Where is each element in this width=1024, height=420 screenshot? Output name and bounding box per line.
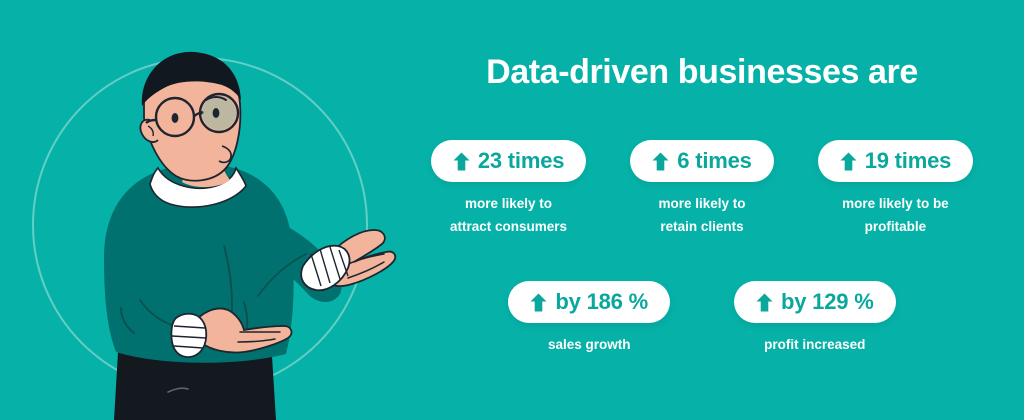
arrow-up-icon: [756, 293, 773, 312]
stat-caption: profit increased: [764, 333, 865, 356]
stat-caption: more likely to attract consumers: [450, 192, 567, 238]
stat-value: by 186 %: [555, 291, 648, 313]
stat-value: 6 times: [677, 150, 751, 172]
stat-value: 19 times: [865, 150, 951, 172]
stat-pill[interactable]: by 186 %: [508, 281, 670, 323]
stat-pill[interactable]: 23 times: [431, 140, 586, 182]
stat-pill[interactable]: 19 times: [818, 140, 973, 182]
stats-row-bottom: by 186 % sales growth by 129 % profit in…: [380, 281, 1024, 356]
arrow-up-icon: [530, 293, 547, 312]
stat-caption: more likely to be profitable: [842, 192, 949, 238]
stat-value: 23 times: [478, 150, 564, 172]
stat-sales-growth: by 186 % sales growth: [508, 281, 670, 356]
page-title: Data-driven businesses are: [380, 52, 1024, 92]
stat-value: by 129 %: [781, 291, 874, 313]
stat-caption: more likely to retain clients: [658, 192, 745, 238]
stats-row-top: 23 times more likely to attract consumer…: [380, 140, 1024, 238]
content-column: Data-driven businesses are 23 times more…: [380, 0, 1024, 420]
arrow-up-icon: [453, 152, 470, 171]
eye-right: [213, 108, 220, 118]
sleeve-cuff-lower: [171, 314, 206, 357]
stat-profitable: 19 times more likely to be profitable: [818, 140, 973, 238]
infographic-canvas: Data-driven businesses are 23 times more…: [0, 0, 1024, 420]
stat-pill[interactable]: 6 times: [630, 140, 773, 182]
stat-pill[interactable]: by 129 %: [734, 281, 896, 323]
stat-profit-increased: by 129 % profit increased: [734, 281, 896, 356]
illustration-man-with-glasses: [0, 0, 400, 420]
eye-left: [172, 113, 179, 123]
arrow-up-icon: [840, 152, 857, 171]
stat-retain-clients: 6 times more likely to retain clients: [630, 140, 773, 238]
stat-attract-consumers: 23 times more likely to attract consumer…: [431, 140, 586, 238]
stat-caption: sales growth: [548, 333, 631, 356]
arrow-up-icon: [652, 152, 669, 171]
